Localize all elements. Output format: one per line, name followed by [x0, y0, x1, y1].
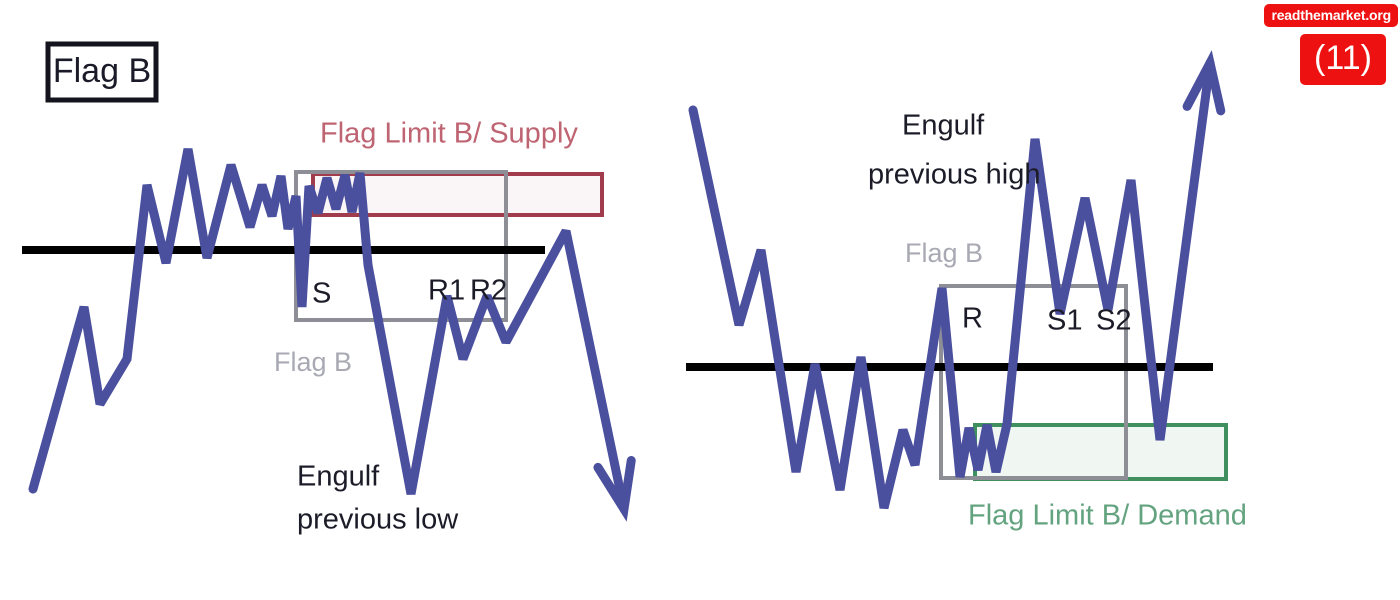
diagram-canvas: Flag BFlag Limit B/ SupplySR1R2Flag BEng… — [0, 0, 1400, 600]
brand-watermark-badge: readthemarket.org — [1264, 4, 1398, 27]
panel-bearish-flag-b: Flag Limit B/ SupplySR1R2Flag BEngulfpre… — [22, 118, 631, 536]
swing-low-s1-label: S1 — [1047, 305, 1082, 337]
engulf-line1-left: Engulf — [297, 461, 380, 493]
swing-high-r2-label: R2 — [470, 275, 507, 307]
engulf-line2-left: previous low — [297, 504, 459, 536]
flag-b-label-left: Flag B — [274, 347, 352, 377]
title-box-label: Flag B — [53, 52, 151, 90]
swing-high-r-label: R — [962, 303, 983, 335]
swing-low-s-label: S — [312, 278, 331, 310]
page-number-badge: (11) — [1300, 34, 1386, 85]
swing-high-r1-label: R1 — [428, 275, 465, 307]
demand-box-right — [975, 425, 1226, 479]
engulf-line1-right: Engulf — [902, 110, 985, 142]
supply-zone-label: Flag Limit B/ Supply — [320, 118, 578, 150]
title-box: Flag B — [48, 44, 156, 100]
flag-b-chart-svg: Flag BFlag Limit B/ SupplySR1R2Flag BEng… — [0, 0, 1400, 600]
demand-zone-label: Flag Limit B/ Demand — [968, 500, 1247, 532]
swing-low-s2-label: S2 — [1096, 305, 1131, 337]
panel-bullish-flag-b: Engulfprevious highFlag BRS1S2Flag Limit… — [686, 63, 1247, 532]
flag-b-label-right: Flag B — [905, 238, 983, 268]
engulf-line2-right: previous high — [868, 159, 1041, 191]
